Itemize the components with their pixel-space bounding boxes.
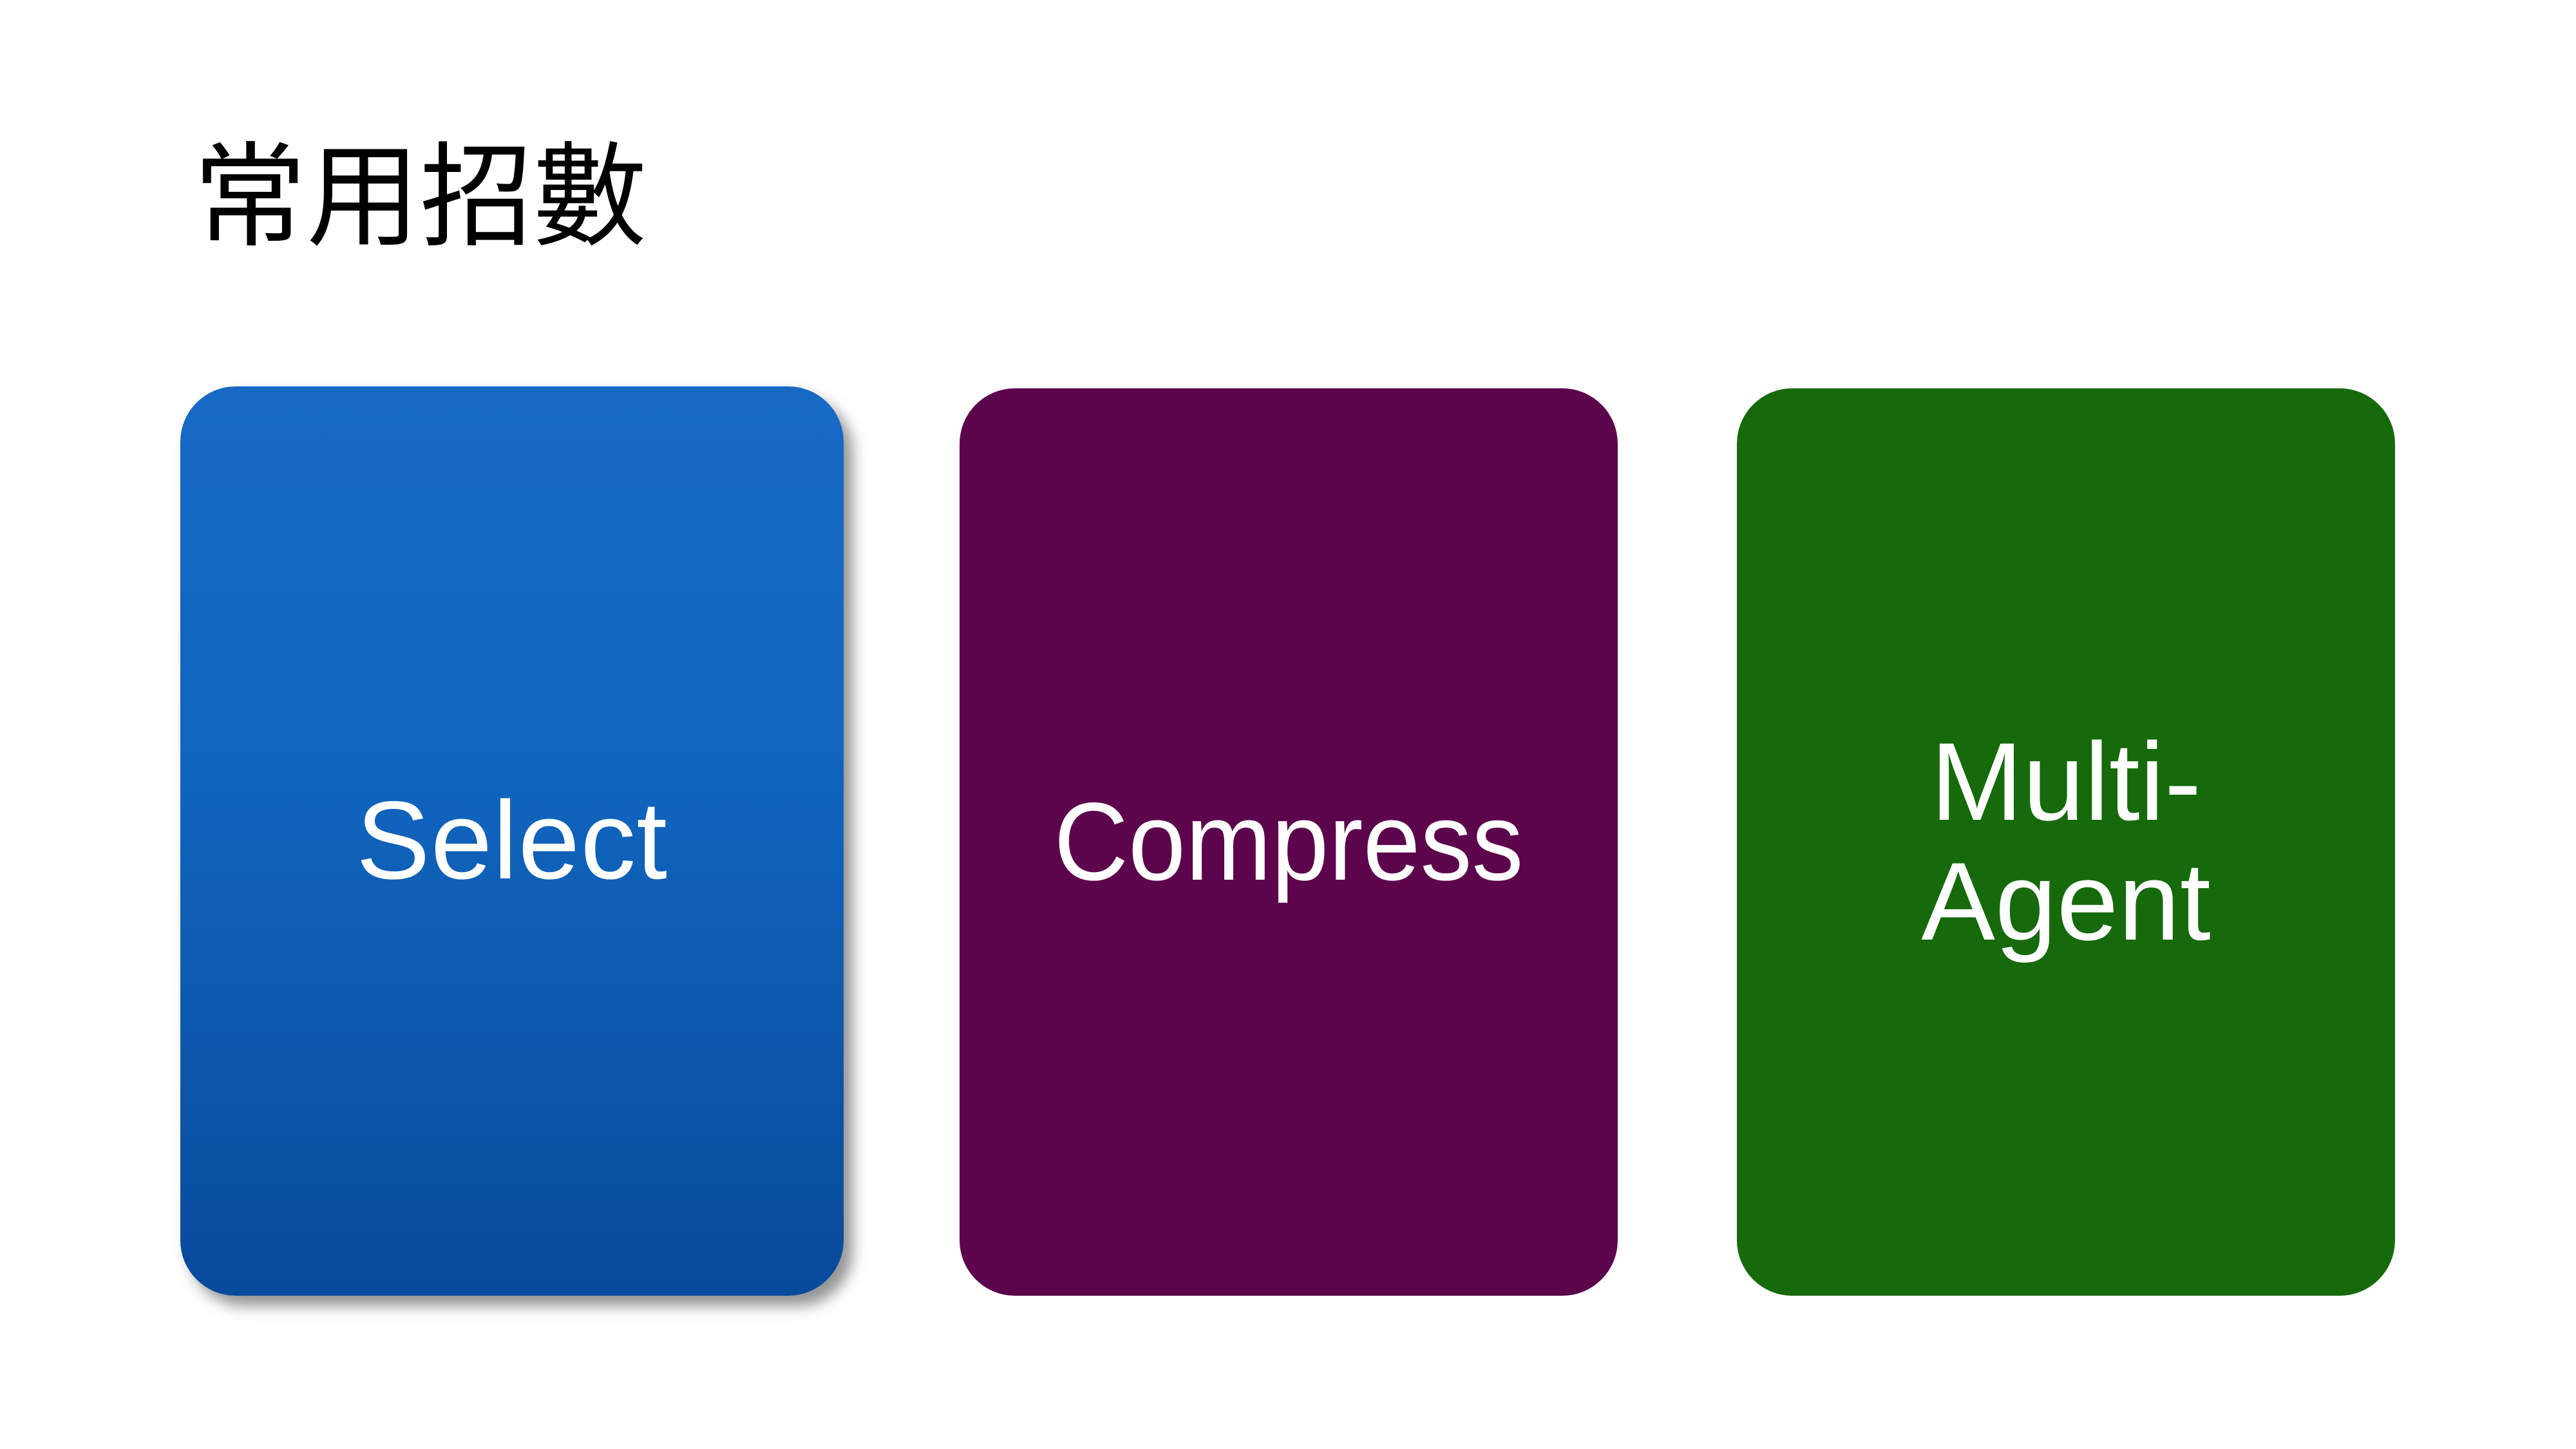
card-multi-agent-label: Multi- Agent — [1737, 723, 2395, 962]
card-select[interactable]: Select — [180, 386, 844, 1296]
card-compress-label: Compress — [983, 786, 1595, 898]
card-row: Select Compress Multi- Agent — [0, 0, 2576, 1449]
card-compress[interactable]: Compress — [960, 388, 1618, 1296]
slide-canvas: 常用招數 Select Compress Multi- Agent — [0, 0, 2576, 1449]
card-multi-agent[interactable]: Multi- Agent — [1737, 388, 2395, 1296]
card-select-label: Select — [180, 784, 844, 897]
